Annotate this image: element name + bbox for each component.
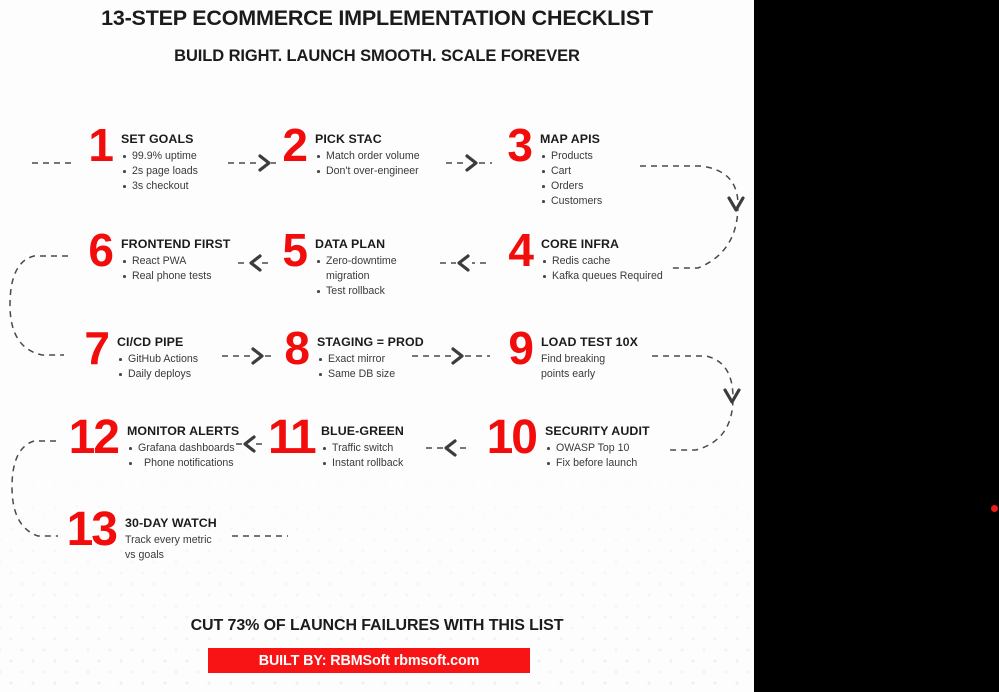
step-card-7: 7 CI/CD PIPE GitHub Actions Daily deploy… bbox=[72, 329, 198, 382]
list-item: Daily deploys bbox=[117, 367, 198, 382]
list-item: Same DB size bbox=[317, 367, 424, 382]
step-list-4: Redis cache Kafka queues Required bbox=[541, 254, 663, 284]
step-body-2: PICK STAC Match order volume Don't over-… bbox=[306, 126, 420, 179]
step-title-9: LOAD TEST 10X bbox=[541, 335, 638, 349]
step-card-10: 10 SECURITY AUDIT OWASP Top 10 Fix befor… bbox=[470, 418, 650, 471]
connector-12-to-13-uturn bbox=[12, 441, 58, 536]
poster-canvas: 13-STEP ECOMMERCE IMPLEMENTATION CHECKLI… bbox=[0, 0, 754, 692]
list-item: Traffic switch bbox=[321, 441, 404, 456]
step-body-7: CI/CD PIPE GitHub Actions Daily deploys bbox=[108, 329, 198, 382]
step-title-2: PICK STAC bbox=[315, 132, 420, 146]
arrow-left-4-to-5 bbox=[459, 256, 468, 270]
step-title-11: BLUE-GREEN bbox=[321, 424, 404, 438]
red-dot-accent bbox=[991, 505, 998, 512]
step-list-7: GitHub Actions Daily deploys bbox=[117, 352, 198, 382]
step-number-10: 10 bbox=[470, 418, 536, 458]
step-list-10: OWASP Top 10 Fix before launch bbox=[545, 441, 650, 471]
step-title-1: SET GOALS bbox=[121, 132, 198, 146]
step-card-5: 5 DATA PLAN Zero-downtime migration Test… bbox=[272, 231, 407, 299]
step-number-12: 12 bbox=[56, 418, 118, 458]
arrow-left-11-to-12 bbox=[245, 437, 254, 451]
step-card-12: 12 MONITOR ALERTS Grafana dashboards Pho… bbox=[56, 418, 239, 471]
step-body-12: MONITOR ALERTS Grafana dashboards Phone … bbox=[118, 418, 239, 471]
arrow-left-10-to-11 bbox=[446, 441, 455, 455]
list-item: Real phone tests bbox=[121, 269, 230, 284]
list-item: Find breaking bbox=[541, 352, 638, 367]
page-subtitle: BUILD RIGHT. LAUNCH SMOOTH. SCALE FOREVE… bbox=[0, 47, 754, 66]
step-body-6: FRONTEND FIRST React PWA Real phone test… bbox=[112, 231, 230, 284]
list-item: Orders bbox=[540, 179, 602, 194]
list-item: 99.9% uptime bbox=[121, 149, 198, 164]
list-item: 3s checkout bbox=[121, 179, 198, 194]
step-card-3: 3 MAP APIS Products Cart Orders Customer… bbox=[497, 126, 602, 209]
step-title-4: CORE INFRA bbox=[541, 237, 663, 251]
step-list-12: Grafana dashboards Phone notifications bbox=[127, 441, 239, 471]
step-title-8: STAGING = PROD bbox=[317, 335, 424, 349]
step-list-6: React PWA Real phone tests bbox=[121, 254, 230, 284]
arrow-down-3-to-4 bbox=[729, 198, 743, 210]
step-body-3: MAP APIS Products Cart Orders Customers bbox=[531, 126, 602, 209]
built-by-badge: BUILT BY: RBMSoft rbmsoft.com bbox=[208, 648, 530, 673]
list-item: Instant rollback bbox=[321, 456, 404, 471]
list-item: Redis cache bbox=[541, 254, 663, 269]
step-body-9: LOAD TEST 10X Find breaking points early bbox=[532, 329, 638, 382]
step-number-13: 13 bbox=[58, 510, 116, 550]
step-card-2: 2 PICK STAC Match order volume Don't ove… bbox=[272, 126, 420, 179]
step-list-1: 99.9% uptime 2s page loads 3s checkout bbox=[121, 149, 198, 194]
step-list-13: Track every metric vs goals bbox=[125, 533, 217, 563]
step-list-11: Traffic switch Instant rollback bbox=[321, 441, 404, 471]
step-body-11: BLUE-GREEN Traffic switch Instant rollba… bbox=[312, 418, 404, 471]
step-title-3: MAP APIS bbox=[540, 132, 602, 146]
step-number-7: 7 bbox=[72, 329, 108, 368]
step-number-2: 2 bbox=[272, 126, 306, 165]
step-card-1: 1 SET GOALS 99.9% uptime 2s page loads 3… bbox=[80, 126, 198, 194]
step-number-8: 8 bbox=[272, 329, 308, 368]
step-list-9: Find breaking points early bbox=[541, 352, 638, 382]
step-card-9: 9 LOAD TEST 10X Find breaking points ear… bbox=[494, 329, 638, 382]
step-number-11: 11 bbox=[268, 418, 312, 458]
step-card-8: 8 STAGING = PROD Exact mirror Same DB si… bbox=[272, 329, 424, 382]
step-number-3: 3 bbox=[497, 126, 531, 165]
list-item: Phone notifications bbox=[127, 456, 239, 471]
list-item: Fix before launch bbox=[545, 456, 650, 471]
step-list-5: Zero-downtime migration Test rollback bbox=[315, 254, 407, 299]
list-item: GitHub Actions bbox=[117, 352, 198, 367]
step-title-12: MONITOR ALERTS bbox=[127, 424, 239, 438]
list-item: React PWA bbox=[121, 254, 230, 269]
list-item: Track every metric bbox=[125, 533, 217, 548]
list-item: Cart bbox=[540, 164, 602, 179]
list-item: Don't over-engineer bbox=[315, 164, 420, 179]
arrow-right-2-to-3 bbox=[467, 156, 476, 170]
arrow-right-1-to-2 bbox=[260, 156, 269, 170]
step-number-1: 1 bbox=[80, 126, 112, 165]
connector-6-to-7-uturn bbox=[10, 256, 68, 355]
step-card-6: 6 FRONTEND FIRST React PWA Real phone te… bbox=[70, 231, 230, 284]
list-item: points early bbox=[541, 367, 638, 382]
infographic-poster: 13-STEP ECOMMERCE IMPLEMENTATION CHECKLI… bbox=[0, 0, 999, 692]
step-body-1: SET GOALS 99.9% uptime 2s page loads 3s … bbox=[112, 126, 198, 194]
step-list-8: Exact mirror Same DB size bbox=[317, 352, 424, 382]
built-by-label: BUILT BY: RBMSoft rbmsoft.com bbox=[259, 653, 480, 669]
list-item: OWASP Top 10 bbox=[545, 441, 650, 456]
step-title-7: CI/CD PIPE bbox=[117, 335, 198, 349]
step-body-8: STAGING = PROD Exact mirror Same DB size bbox=[308, 329, 424, 382]
step-card-4: 4 CORE INFRA Redis cache Kafka queues Re… bbox=[494, 231, 663, 284]
step-card-13: 13 30-DAY WATCH Track every metric vs go… bbox=[58, 510, 217, 563]
step-number-5: 5 bbox=[272, 231, 306, 270]
list-item: Grafana dashboards bbox=[127, 441, 239, 456]
step-title-10: SECURITY AUDIT bbox=[545, 424, 650, 438]
list-item: Zero-downtime migration bbox=[315, 254, 407, 284]
step-title-6: FRONTEND FIRST bbox=[121, 237, 230, 251]
arrow-right-8-to-9 bbox=[453, 349, 462, 363]
step-number-6: 6 bbox=[70, 231, 112, 270]
list-item: Exact mirror bbox=[317, 352, 424, 367]
arrow-left-5-to-6 bbox=[251, 256, 260, 270]
step-body-10: SECURITY AUDIT OWASP Top 10 Fix before l… bbox=[536, 418, 650, 471]
step-body-5: DATA PLAN Zero-downtime migration Test r… bbox=[306, 231, 407, 299]
list-item: Products bbox=[540, 149, 602, 164]
step-body-13: 30-DAY WATCH Track every metric vs goals bbox=[116, 510, 217, 563]
step-body-4: CORE INFRA Redis cache Kafka queues Requ… bbox=[532, 231, 663, 284]
list-item: Test rollback bbox=[315, 284, 407, 299]
step-number-9: 9 bbox=[494, 329, 532, 368]
list-item: 2s page loads bbox=[121, 164, 198, 179]
list-item: vs goals bbox=[125, 548, 217, 563]
step-number-4: 4 bbox=[494, 231, 532, 270]
list-item: Customers bbox=[540, 194, 602, 209]
step-title-13: 30-DAY WATCH bbox=[125, 516, 217, 530]
list-item: Match order volume bbox=[315, 149, 420, 164]
arrow-right-7-to-8 bbox=[253, 349, 262, 363]
step-card-11: 11 BLUE-GREEN Traffic switch Instant rol… bbox=[268, 418, 404, 471]
right-black-panel bbox=[754, 0, 999, 692]
list-item: Kafka queues Required bbox=[541, 269, 663, 284]
page-title: 13-STEP ECOMMERCE IMPLEMENTATION CHECKLI… bbox=[0, 6, 754, 31]
step-list-2: Match order volume Don't over-engineer bbox=[315, 149, 420, 179]
arrow-down-9-to-10 bbox=[725, 390, 739, 402]
cta-text: CUT 73% OF LAUNCH FAILURES WITH THIS LIS… bbox=[0, 617, 754, 635]
step-list-3: Products Cart Orders Customers bbox=[540, 149, 602, 209]
connector-9-to-10-uturn bbox=[652, 356, 733, 450]
step-title-5: DATA PLAN bbox=[315, 237, 407, 251]
